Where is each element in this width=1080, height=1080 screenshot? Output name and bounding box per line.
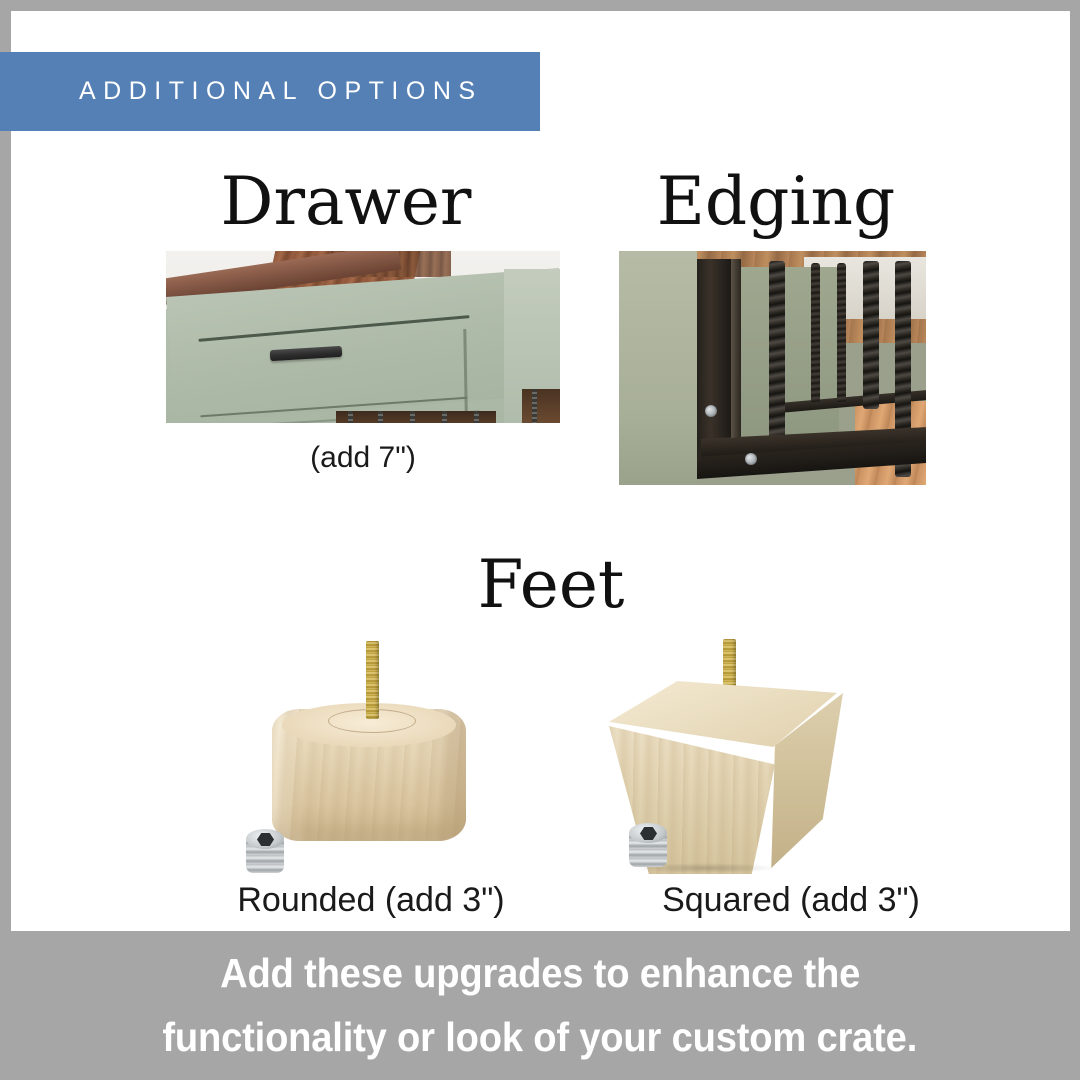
drawer-rebar-bar	[442, 411, 447, 423]
edging-rebar-bar	[863, 261, 879, 409]
drawer-caption: (add 7")	[166, 443, 560, 473]
drawer-rebar-bar	[348, 411, 353, 423]
additional-options-banner: ADDITIONAL OPTIONS	[0, 52, 540, 131]
section-title-edging: Edging	[571, 169, 981, 235]
edging-screw-icon	[745, 453, 757, 465]
edging-photo	[619, 251, 926, 485]
rounded-foot-photo	[236, 631, 516, 881]
edging-rebar-bar	[769, 261, 785, 459]
drawer-rebar-bar	[474, 411, 479, 423]
squared-foot-photo	[591, 631, 881, 881]
drawer-rebar-bar	[378, 411, 383, 423]
banner-label: ADDITIONAL OPTIONS	[79, 77, 483, 106]
edging-inner-panel	[731, 267, 839, 447]
footer-message: Add these upgrades to enhance the functi…	[0, 931, 1080, 1080]
edging-screw-icon	[705, 405, 717, 417]
section-title-feet: Feet	[11, 552, 1080, 618]
edging-rebar-bar	[837, 263, 846, 403]
rounded-foot-caption: Rounded (add 3")	[151, 883, 591, 917]
footer-line-1: Add these upgrades to enhance the	[220, 942, 860, 1006]
edging-left-panel	[619, 251, 697, 485]
drawer-photo	[166, 251, 560, 423]
drawer-rebar-bar	[410, 411, 415, 423]
squared-foot-caption: Squared (add 3")	[576, 883, 1006, 917]
options-graphic: Drawer Edging Feet (add 7") Rounded (add…	[0, 0, 1080, 1080]
drawer-rebar-bar	[532, 389, 537, 423]
footer-line-2: functionality or look of your custom cra…	[163, 1006, 918, 1070]
edging-metal-trim-inner	[731, 259, 741, 437]
drawer-open-cavity	[336, 411, 496, 423]
t-nut-insert-icon	[629, 823, 667, 867]
drawer-open-cavity-right	[522, 389, 560, 423]
edging-rebar-bar	[811, 263, 820, 403]
white-content-card: Drawer Edging Feet (add 7") Rounded (add…	[11, 11, 1070, 931]
brass-bolt-icon	[366, 641, 379, 719]
edging-metal-trim	[697, 259, 731, 459]
t-nut-insert-icon	[246, 829, 284, 873]
